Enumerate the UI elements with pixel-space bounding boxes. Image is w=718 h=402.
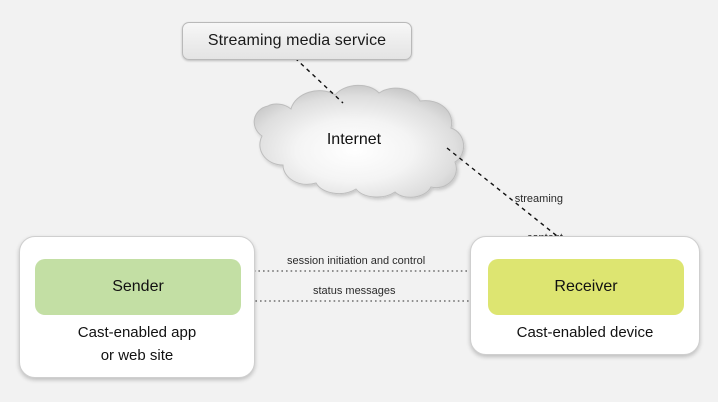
sender-chip[interactable]: Sender [35, 259, 241, 315]
receiver-chip[interactable]: Receiver [488, 259, 684, 315]
receiver-caption-line1: Cast-enabled device [471, 321, 699, 344]
edge-label-session-initiation: session initiation and control [287, 255, 425, 268]
streaming-media-service-label: Streaming media service [208, 32, 386, 50]
sender-caption: Cast-enabled app or web site [20, 321, 254, 367]
edge-label-status-messages: status messages [313, 285, 396, 298]
receiver-caption: Cast-enabled device [471, 321, 699, 344]
diagram-canvas: Streaming media service Internet session… [0, 0, 718, 402]
internet-cloud-label: Internet [258, 131, 450, 149]
streaming-media-service-node[interactable]: Streaming media service [182, 22, 412, 60]
receiver-chip-label: Receiver [554, 278, 617, 296]
edge-label-streaming-content-line1: streaming [495, 193, 563, 206]
sender-chip-label: Sender [112, 278, 164, 296]
sender-caption-line2: or web site [20, 344, 254, 367]
sender-caption-line1: Cast-enabled app [20, 321, 254, 344]
sender-node[interactable]: Sender Cast-enabled app or web site [19, 236, 255, 378]
receiver-node[interactable]: Receiver Cast-enabled device [470, 236, 700, 355]
